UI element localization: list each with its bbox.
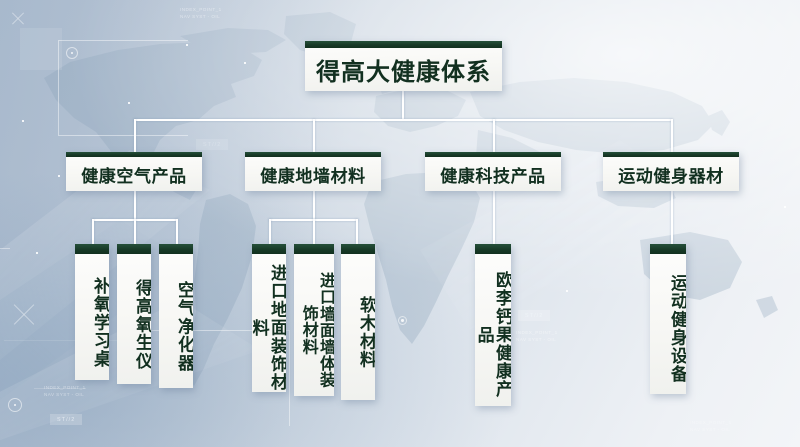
node-leaf-4-1[interactable]: 运动健身设备 (650, 244, 686, 394)
node-branch-4-label: 运动健身器材 (603, 157, 739, 191)
node-leaf-2-2-accent-bar (294, 244, 334, 254)
node-branch-1-label: 健康空气产品 (66, 157, 202, 191)
node-leaf-2-3[interactable]: 软木材料 (341, 244, 375, 400)
connector-drop-branch-3 (493, 119, 495, 152)
node-root-label: 得高大健康体系 (305, 48, 502, 91)
connector-root-stem (402, 91, 404, 119)
hud-dot-5 (186, 44, 188, 46)
hud-status-badge-3: ST//2 (196, 139, 228, 150)
node-leaf-1-3-label: 空气净化器 (159, 254, 193, 388)
hud-dot-9 (784, 206, 786, 208)
hud-nav-label-2: NAV SYST - OIL (44, 392, 86, 399)
node-branch-4[interactable]: 运动健身器材 (603, 152, 739, 191)
node-branch-1[interactable]: 健康空气产品 (66, 152, 202, 191)
node-leaf-4-1-label: 运动健身设备 (650, 254, 686, 394)
node-branch-3[interactable]: 健康科技产品 (425, 152, 561, 191)
node-leaf-2-1-accent-bar (252, 244, 286, 254)
connector-b4-stem (671, 191, 673, 244)
node-root[interactable]: 得高大健康体系 (305, 41, 502, 91)
node-leaf-3-1-accent-bar (475, 244, 511, 254)
hud-status-badge-2: ST//2 (518, 310, 550, 321)
connector-b1-spine (92, 219, 177, 221)
hud-dot-2 (58, 175, 60, 177)
node-leaf-3-1-label: 欧李钙果健康产品 (475, 254, 511, 406)
hud-readout-bottom-right: INDEX_POINT_1 NAV SYST - OIL (690, 420, 732, 434)
hud-nav-label-1: NAV SYST - OIL (180, 14, 222, 21)
node-branch-2[interactable]: 健康地墙材料 (245, 152, 381, 191)
node-leaf-4-1-accent-bar (650, 244, 686, 254)
hud-ring-left (66, 47, 78, 59)
node-leaf-1-1-accent-bar (75, 244, 109, 254)
hud-crosshair-mid-left (10, 300, 38, 328)
node-leaf-2-2-label: 进口墙面墙体装饰材料 (294, 254, 334, 396)
hud-index-label-3: INDEX_POINT_1 (516, 330, 558, 337)
node-branch-2-label: 健康地墙材料 (245, 157, 381, 191)
connector-b1-child-1 (92, 219, 94, 244)
connector-b2-child-3 (356, 219, 358, 244)
hud-crosshair-top-left (10, 10, 26, 26)
hud-line-left-vertical (0, 248, 10, 249)
connector-drop-branch-4 (671, 119, 673, 152)
connector-b2-spine (269, 219, 358, 221)
org-chart-canvas: INDEX_POINT_1 NAV SYST - OIL INDEX_POINT… (0, 0, 800, 447)
hud-index-label-4: INDEX_POINT_1 (690, 420, 732, 427)
node-leaf-2-3-label: 软木材料 (341, 254, 375, 400)
connector-b2-child-2 (313, 219, 315, 244)
hud-dot-4 (128, 102, 130, 104)
node-leaf-1-3[interactable]: 空气净化器 (159, 244, 193, 388)
hud-readout-mid-right: INDEX_POINT_1 NAV SYST - OIL (516, 330, 558, 344)
hud-panel-left (20, 28, 62, 70)
node-leaf-1-1-label: 补氧学习桌 (75, 254, 109, 380)
hud-status-badge-1: ST//2 (50, 414, 82, 425)
hud-dot-8 (566, 290, 568, 292)
connector-drop-branch-2 (313, 119, 315, 152)
hud-line-bottom-left (34, 388, 86, 389)
node-leaf-3-1[interactable]: 欧李钙果健康产品 (475, 244, 511, 406)
connector-b3-stem (493, 191, 495, 244)
hud-ring-bottom-left (8, 398, 22, 412)
node-leaf-1-2-accent-bar (117, 244, 151, 254)
node-root-accent-bar (305, 41, 502, 48)
connector-b1-child-3 (176, 219, 178, 244)
hud-nav-label-3: NAV SYST - OIL (516, 337, 558, 344)
hud-line-left-horizontal (4, 340, 130, 341)
node-leaf-1-1[interactable]: 补氧学习桌 (75, 244, 109, 380)
connector-b2-child-1 (269, 219, 271, 244)
node-leaf-1-3-accent-bar (159, 244, 193, 254)
node-leaf-2-2[interactable]: 进口墙面墙体装饰材料 (294, 244, 334, 396)
node-leaf-2-1[interactable]: 进口地面装饰材料 (252, 244, 286, 392)
connector-b1-stem (134, 191, 136, 219)
hud-bracket-left (58, 40, 188, 136)
hud-dot-1 (22, 120, 24, 122)
hud-dot-3 (36, 252, 38, 254)
connector-level2-spine (134, 119, 672, 121)
hud-nav-label-4: NAV SYST - OIL (690, 427, 732, 434)
connector-drop-branch-1 (134, 119, 136, 152)
connector-b2-stem (313, 191, 315, 219)
hud-ring-mid (398, 316, 407, 325)
hud-readout-top: INDEX_POINT_1 NAV SYST - OIL (180, 7, 222, 21)
node-leaf-2-1-label: 进口地面装饰材料 (252, 254, 286, 392)
node-branch-3-label: 健康科技产品 (425, 157, 561, 191)
hud-index-label-2: INDEX_POINT_1 (44, 385, 86, 392)
connector-b1-child-2 (134, 219, 136, 244)
hud-readout-bottom-left: INDEX_POINT_1 NAV SYST - OIL (44, 385, 86, 399)
node-leaf-1-2-label: 得高氧生仪 (117, 254, 151, 384)
node-leaf-1-2[interactable]: 得高氧生仪 (117, 244, 151, 384)
node-leaf-2-3-accent-bar (341, 244, 375, 254)
hud-dot-7 (244, 62, 246, 64)
hud-index-label-1: INDEX_POINT_1 (180, 7, 222, 14)
